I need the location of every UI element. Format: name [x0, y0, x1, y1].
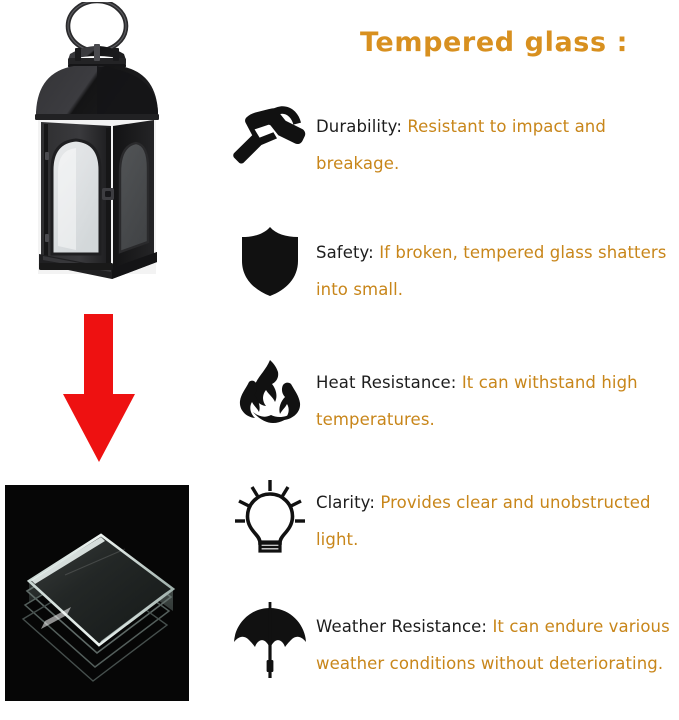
feature-row: Clarity: Provides clear and unobstructed…	[212, 468, 679, 558]
feature-row: Heat Resistance: It can withstand high t…	[212, 348, 679, 438]
hammer-icon	[224, 92, 316, 178]
feature-row: Durability: Resistant to impact and brea…	[212, 92, 679, 182]
feature-text: Durability: Resistant to impact and brea…	[316, 92, 679, 182]
lightbulb-icon	[224, 472, 316, 558]
umbrella-icon	[224, 598, 316, 684]
feature-text: Heat Resistance: It can withstand high t…	[316, 348, 679, 438]
feature-row: Weather Resistance: It can endure variou…	[212, 598, 679, 684]
stacked-tempered-glass-panels-photo	[5, 485, 189, 701]
red-down-arrow	[56, 312, 142, 464]
left-media-column	[0, 0, 212, 720]
feature-text: Weather Resistance: It can endure variou…	[316, 598, 679, 682]
feature-label: Clarity:	[316, 493, 375, 512]
feature-label: Weather Resistance:	[316, 617, 487, 636]
feature-text: Safety: If broken, tempered glass shatte…	[316, 218, 679, 308]
page-title: Tempered glass :	[360, 27, 628, 58]
shield-icon	[224, 218, 316, 304]
flame-icon	[224, 348, 316, 434]
features-column: Tempered glass : Durability: Resistant t…	[212, 0, 679, 720]
feature-label: Durability:	[316, 117, 402, 136]
feature-row: Safety: If broken, tempered glass shatte…	[212, 218, 679, 308]
feature-label: Safety:	[316, 243, 374, 262]
black-metal-lantern-photo	[14, 2, 180, 302]
feature-label: Heat Resistance:	[316, 373, 456, 392]
feature-text: Clarity: Provides clear and unobstructed…	[316, 468, 679, 558]
